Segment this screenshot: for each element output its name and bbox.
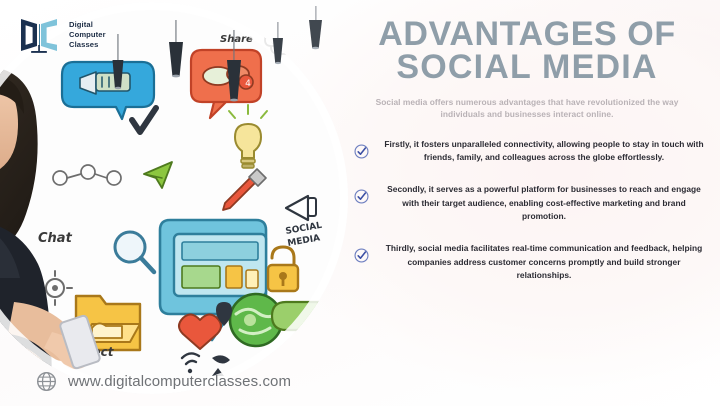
page-title-line-1: ADVANTAGES OF — [378, 15, 675, 53]
list-item: Secondly, it serves as a powerful platfo… — [348, 183, 706, 224]
check-circle-icon — [354, 183, 369, 209]
brand-logo: Digital Computer Classes — [16, 12, 106, 58]
website-url[interactable]: www.digitalcomputerclasses.com — [68, 373, 291, 390]
advantages-list: Firstly, it fosters unparalleled connect… — [348, 138, 706, 283]
brand-name-line-3: Classes — [69, 40, 106, 50]
list-item: Thirdly, social media facilitates real-t… — [348, 242, 706, 283]
dc-monogram-logo-icon — [16, 12, 62, 58]
social-media-illustration: 4 Share — [0, 2, 348, 394]
svg-text:4: 4 — [245, 79, 251, 89]
check-circle-icon — [354, 242, 369, 268]
page-subtitle: Social media offers numerous advantages … — [362, 96, 692, 121]
illustration-circle-mask: 4 Share — [0, 2, 348, 394]
list-item: Firstly, it fosters unparalleled connect… — [348, 138, 706, 165]
brand-name-line-1: Digital — [69, 20, 106, 30]
brand-name: Digital Computer Classes — [69, 20, 106, 50]
brand-name-line-2: Computer — [69, 30, 106, 40]
globe-icon — [36, 371, 57, 392]
list-item-text: Secondly, it serves as a powerful platfo… — [382, 183, 706, 224]
list-item-text: Firstly, it fosters unparalleled connect… — [382, 138, 706, 165]
check-circle-icon — [354, 138, 369, 164]
svg-text:Chat: Chat — [38, 231, 73, 246]
footer: www.digitalcomputerclasses.com — [36, 371, 291, 392]
social-media-advantages-poster: Digital Computer Classes — [0, 0, 720, 406]
list-item-text: Thirdly, social media facilitates real-t… — [382, 242, 706, 283]
page-title-line-2: SOCIAL MEDIA — [348, 51, 706, 84]
content-column: ADVANTAGES OF SOCIAL MEDIA Social media … — [348, 18, 706, 283]
page-title: ADVANTAGES OF SOCIAL MEDIA — [348, 18, 706, 85]
